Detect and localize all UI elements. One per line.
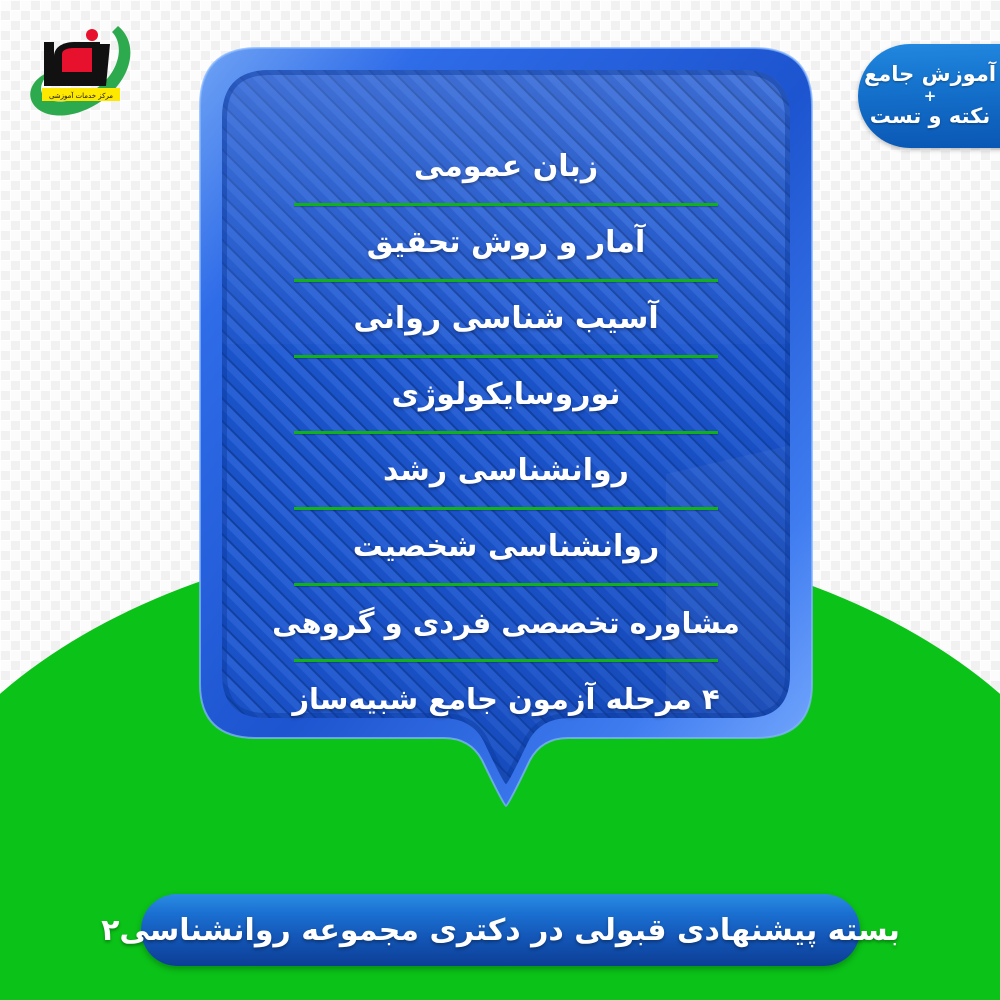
- list-item[interactable]: مشاوره تخصصی فردی و گروهی: [232, 586, 780, 659]
- course-badge: زبان عمومی آمار و روش تحقیق آسیب شناسی ر…: [196, 44, 816, 844]
- list-item-label: آمار و روش تحقیق: [367, 225, 645, 260]
- list-item-label: نوروسایکولوژی: [391, 377, 620, 412]
- bottom-banner-text: بسته پیشنهادی قبولی در دکتری مجموعه روان…: [101, 913, 900, 948]
- course-list: زبان عمومی آمار و روش تحقیق آسیب شناسی ر…: [196, 130, 816, 735]
- nasr-logo[interactable]: مرکز خدمات آموزشی: [14, 14, 144, 126]
- poster-canvas: مرکز خدمات آموزشی آموزش جامع + نکته و تس…: [0, 0, 1000, 1000]
- list-item[interactable]: ۴ مرحله آزمون جامع شبیه‌ساز: [232, 662, 780, 735]
- list-item-label: روانشناسی رشد: [383, 453, 629, 488]
- list-item[interactable]: روانشناسی شخصیت: [232, 510, 780, 583]
- list-item-label: ۴ مرحله آزمون جامع شبیه‌ساز: [292, 682, 719, 716]
- badge-content: زبان عمومی آمار و روش تحقیق آسیب شناسی ر…: [196, 44, 816, 784]
- list-item-label: روانشناسی شخصیت: [353, 529, 660, 564]
- list-item[interactable]: آسیب شناسی روانی: [232, 282, 780, 355]
- list-item[interactable]: زبان عمومی: [232, 130, 780, 203]
- ribbon-line-1: آموزش جامع: [864, 63, 996, 87]
- logo-tagline-text: مرکز خدمات آموزشی: [49, 91, 113, 100]
- ribbon-plus-sign: +: [924, 88, 937, 105]
- list-item-label: زبان عمومی: [414, 149, 598, 184]
- list-item-label: آسیب شناسی روانی: [353, 301, 658, 336]
- list-item[interactable]: روانشناسی رشد: [232, 434, 780, 507]
- bottom-cta-banner[interactable]: بسته پیشنهادی قبولی در دکتری مجموعه روان…: [141, 894, 860, 966]
- list-item-label: مشاوره تخصصی فردی و گروهی: [272, 606, 740, 640]
- list-item[interactable]: نوروسایکولوژی: [232, 358, 780, 431]
- ribbon-line-2: نکته و تست: [870, 105, 991, 129]
- promo-ribbon[interactable]: آموزش جامع + نکته و تست: [858, 44, 1000, 148]
- list-item[interactable]: آمار و روش تحقیق: [232, 206, 780, 279]
